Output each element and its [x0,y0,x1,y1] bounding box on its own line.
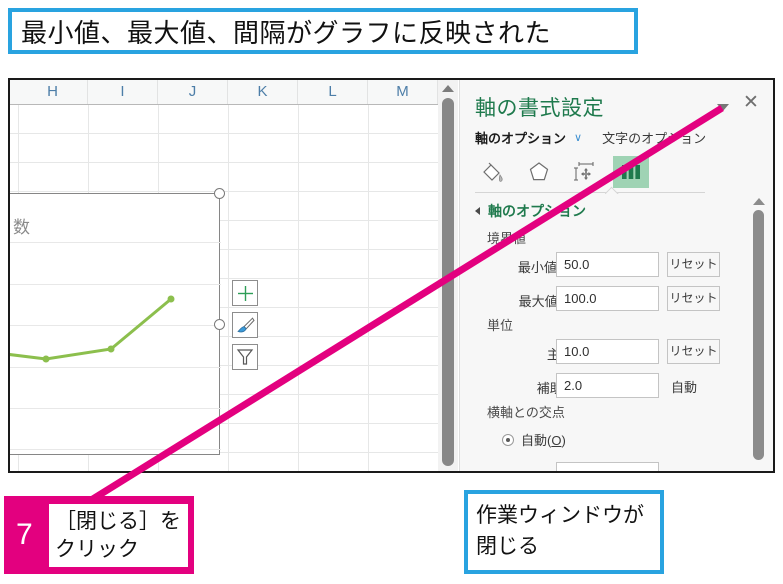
active-tab-notch [605,186,619,194]
chart-object[interactable]: 数 [10,193,220,455]
major-unit-input[interactable] [556,339,659,364]
column-header-m[interactable]: M [368,80,438,104]
panel-scroll-thumb[interactable] [753,210,764,460]
column-header-k[interactable]: K [228,80,298,104]
size-properties-icon [572,159,598,185]
axis-options-tab-button[interactable] [613,156,649,188]
tab-axis-options[interactable]: 軸のオプション [475,128,566,147]
chart-styles-button[interactable] [232,312,258,338]
format-axis-panel: 軸の書式設定 ✕ 軸のオプション ∨ 文字のオプション [459,80,773,471]
step-callout: 7 ［閉じる］を クリック [4,496,194,574]
funnel-icon [236,348,254,366]
result-callout: 作業ウィンドウが 閉じる [464,490,664,574]
top-caption-text: 最小値、最大値、間隔がグラフに反映された [21,13,551,50]
chart-resize-handle-middle[interactable] [214,319,225,330]
grid-line-v [228,105,229,471]
axis-options-chart-icon [619,161,643,183]
minimum-reset-button[interactable]: リセット [667,252,720,277]
maximum-reset-button[interactable]: リセット [667,286,720,311]
panel-title: 軸の書式設定 [475,92,604,122]
axis-crosses-automatic-radio[interactable]: 自動(O) [502,430,566,449]
radio-label-automatic: 自動(O) [521,430,566,449]
tab-text-options[interactable]: 文字のオプション [602,128,706,147]
spreadsheet-area: H I J K L M [10,80,438,471]
major-unit-reset-button[interactable]: リセット [667,339,720,364]
section-header-axis-options: 軸のオプション [488,201,586,221]
chart-filters-button[interactable] [232,344,258,370]
panel-vertical-scrollbar[interactable] [752,198,766,468]
result-line-1: 作業ウィンドウが [476,500,660,531]
step-line-1: ［閉じる］を [55,508,188,536]
grid-line-v [368,105,369,471]
result-line-2: 閉じる [476,531,660,562]
brush-icon [236,316,255,335]
column-header-h[interactable]: H [18,80,88,104]
sheet-vertical-scrollbar[interactable] [438,80,458,471]
partial-input-below-fold[interactable] [556,462,659,473]
chart-elements-button[interactable] [232,280,258,306]
size-properties-tab-button[interactable] [567,156,603,188]
panel-close-button[interactable]: ✕ [741,93,761,113]
page-root: 最小値、最大値、間隔がグラフに反映された H I J K L M [0,0,783,584]
chevron-down-icon[interactable]: ∨ [574,131,582,144]
column-header-i[interactable]: I [88,80,158,104]
fill-bucket-icon [480,159,506,185]
group-label-bounds: 境界値 [487,228,526,247]
minimum-value-input[interactable] [556,252,659,277]
maximum-value-input[interactable] [556,286,659,311]
icon-row-divider [475,192,705,193]
group-label-axis-crosses: 横軸との交点 [487,402,565,421]
minor-unit-auto-label: 自動 [671,377,697,396]
column-header-j[interactable]: J [158,80,228,104]
plus-icon [237,285,254,302]
panel-menu-caret-icon[interactable] [717,104,729,111]
step-number: 7 [16,518,33,552]
radio-selected-icon [502,434,514,446]
chart-line-series [10,194,221,456]
column-header-row: H I J K L M [10,80,438,105]
screenshot-frame: H I J K L M [8,78,775,473]
minor-unit-input[interactable] [556,373,659,398]
group-label-units: 単位 [487,315,513,334]
grid-line-h [10,162,438,163]
panel-scroll-up-arrow-icon[interactable] [753,198,765,205]
panel-icon-row [475,156,649,188]
top-caption-box: 最小値、最大値、間隔がグラフに反映された [8,8,638,54]
step-line-2: クリック [55,536,188,564]
fill-line-tab-button[interactable] [475,156,511,188]
scroll-up-arrow-icon[interactable] [442,85,454,92]
scroll-thumb[interactable] [442,98,454,466]
grid-line-h [10,133,438,134]
pentagon-effects-icon [526,159,552,185]
chart-resize-handle-top[interactable] [214,188,225,199]
effects-tab-button[interactable] [521,156,557,188]
step-callout-text: ［閉じる］を クリック [49,504,188,567]
column-header-l[interactable]: L [298,80,368,104]
panel-tab-row: 軸のオプション ∨ 文字のオプション [475,128,706,147]
grid-line-v [298,105,299,471]
collapse-triangle-icon[interactable] [475,207,480,215]
